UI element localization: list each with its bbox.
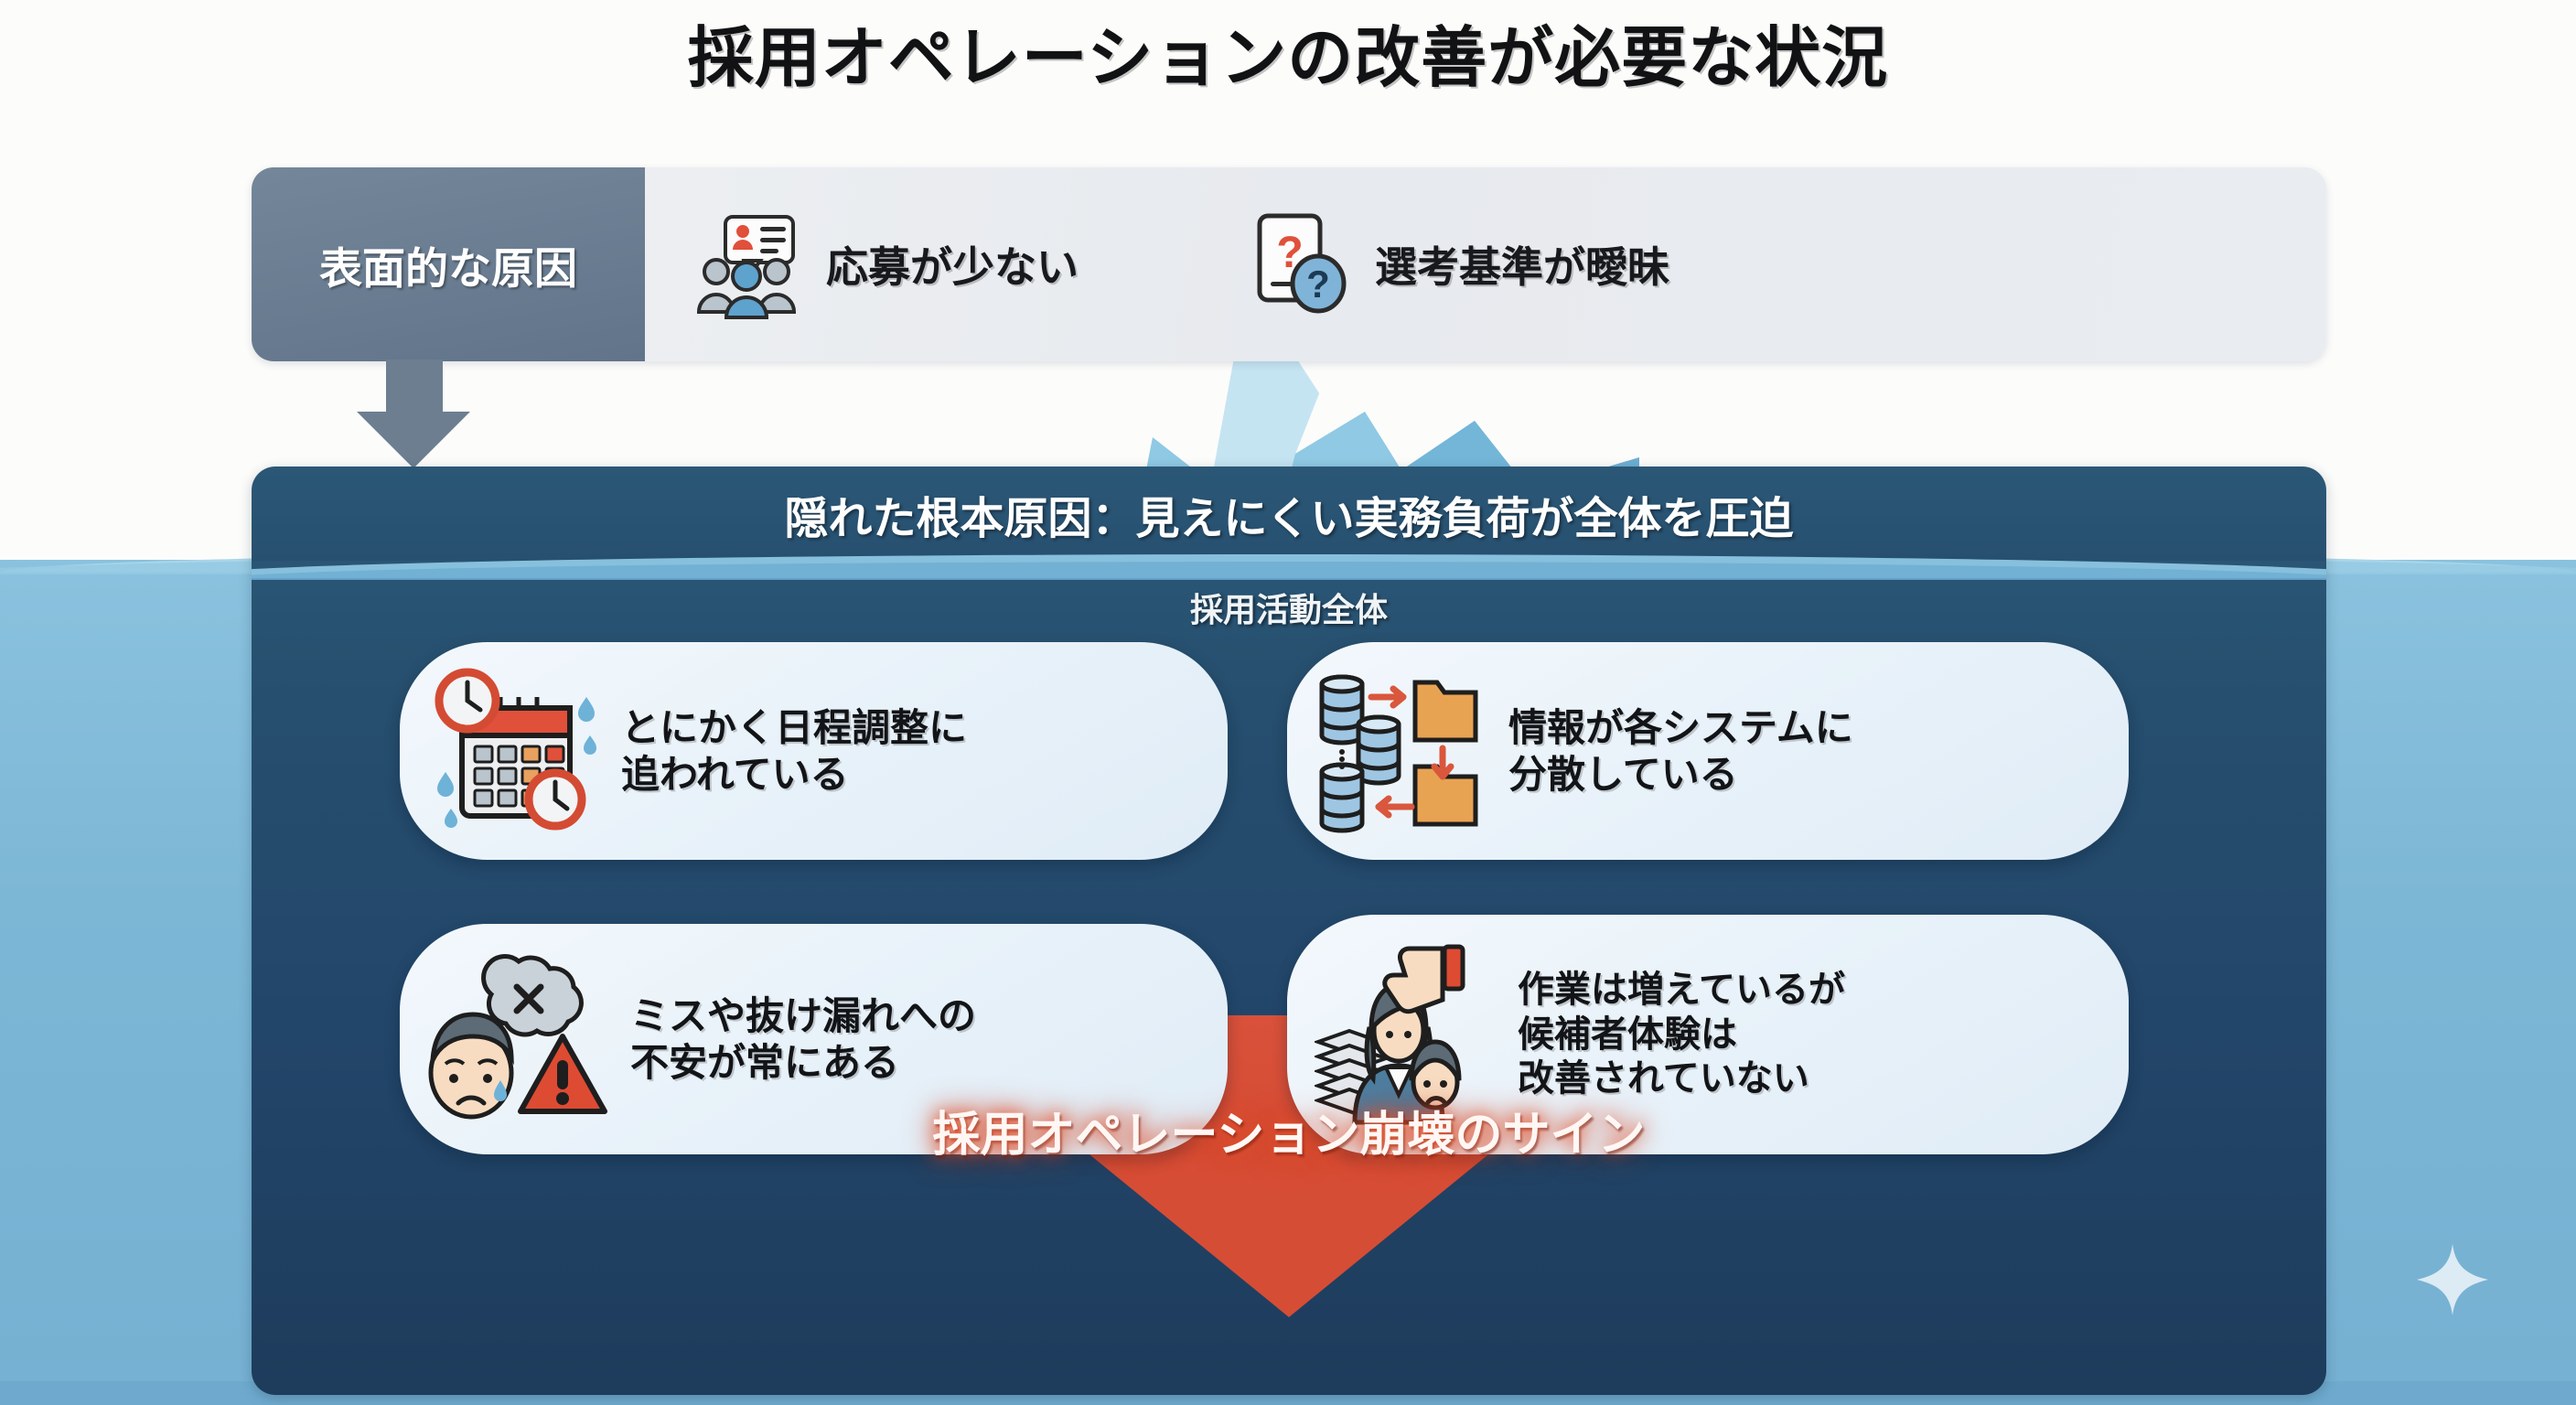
calendar-clock-sweat-icon xyxy=(427,664,610,838)
pain-point-card-0[interactable]: とにかく日程調整に 追われている xyxy=(400,642,1228,860)
surface-item-0-label: 応募が少ない xyxy=(826,234,1079,295)
pain-point-card-2-text: ミスや抜け漏れへの 不安が常にある xyxy=(630,992,976,1086)
card-3-line-1: 候補者体験は xyxy=(1518,1014,1737,1055)
surface-item-0[interactable]: 応募が少ない xyxy=(692,209,1079,319)
surface-to-panel-arrow-stem xyxy=(386,359,443,417)
root-cause-panel: 隠れた根本原因：見えにくい実務負荷が全体を圧迫 採用活動全体 採用オペレーション… xyxy=(252,467,2326,1395)
surface-item-1[interactable]: ? ? 選考基準が曖昧 xyxy=(1243,210,1669,318)
surface-item-1-label: 選考基準が曖昧 xyxy=(1375,234,1669,295)
card-0-line-0: とにかく日程調整に xyxy=(621,706,967,749)
panel-bottom-caption: 採用オペレーション崩壊のサイン xyxy=(252,1096,2326,1164)
pain-point-card-1-text: 情報が各システムに 分散している xyxy=(1508,704,1853,798)
card-3-line-0: 作業は増えているが xyxy=(1518,970,1845,1010)
pain-point-card-1[interactable]: 情報が各システムに 分散している xyxy=(1287,642,2129,860)
document-question-mark-icon: ? ? xyxy=(1243,210,1351,318)
card-3-line-2: 改善されていない xyxy=(1518,1058,1809,1099)
surface-causes-label: 表面的な原因 xyxy=(252,167,645,361)
surface-to-panel-arrow-head xyxy=(357,412,470,468)
card-2-line-1: 不安が常にある xyxy=(630,1041,899,1084)
card-0-line-1: 追われている xyxy=(621,753,849,796)
card-1-line-1: 分散している xyxy=(1508,753,1738,796)
infographic-slide: 採用オペレーションの改善が必要な状況 表面的な原因 xyxy=(0,0,2576,1405)
surface-causes-banner: 表面的な原因 応募が少ない xyxy=(252,167,2326,361)
panel-heading: 隠れた根本原因：見えにくい実務負荷が全体を圧迫 xyxy=(252,467,2326,561)
people-speech-bubble-icon xyxy=(692,209,802,319)
page-title: 採用オペレーションの改善が必要な状況 xyxy=(0,4,2576,100)
svg-text:?: ? xyxy=(1306,263,1330,306)
card-1-line-0: 情報が各システムに xyxy=(1508,706,1853,749)
card-2-line-0: ミスや抜け漏れへの xyxy=(630,994,976,1037)
sparkle-icon xyxy=(2413,1240,2492,1319)
pain-point-card-3-text: 作業は増えているが 候補者体験は 改善されていない xyxy=(1518,968,1845,1101)
pain-point-card-0-text: とにかく日程調整に 追われている xyxy=(621,704,967,798)
database-folder-arrows-icon xyxy=(1315,664,1497,838)
panel-subcaption: 採用活動全体 xyxy=(252,584,2326,631)
